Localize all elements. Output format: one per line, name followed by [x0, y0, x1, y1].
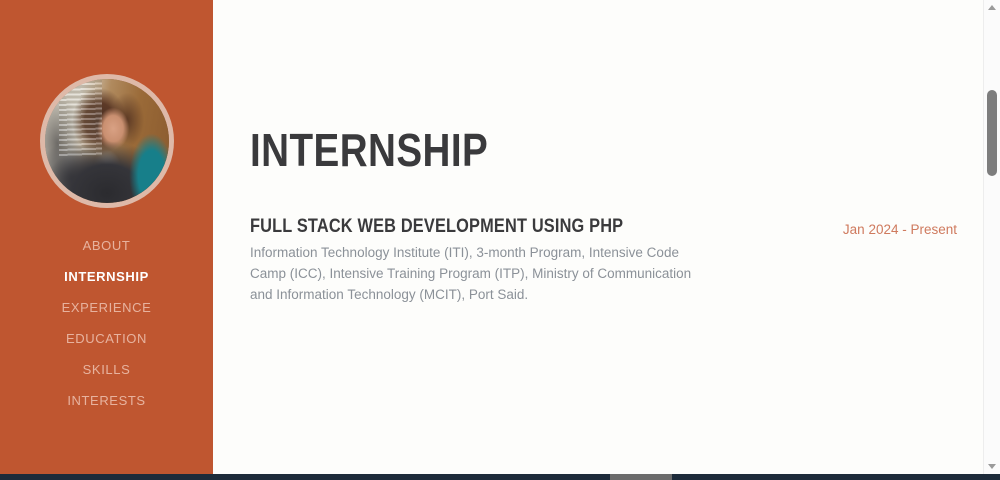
- browser-viewport: About Internship Experience Education Sk…: [0, 0, 1000, 480]
- avatar: [40, 74, 174, 208]
- entry-date: Jan 2024 - Present: [843, 216, 957, 240]
- vertical-scroll-thumb[interactable]: [987, 90, 997, 176]
- main-content: INTERNSHIP FULL STACK WEB DEVELOPMENT US…: [213, 0, 993, 474]
- page-title: INTERNSHIP: [250, 126, 488, 174]
- entry-row: FULL STACK WEB DEVELOPMENT USING PHP Inf…: [250, 216, 957, 305]
- resume-page: About Internship Experience Education Sk…: [0, 0, 993, 474]
- scroll-down-arrow[interactable]: [984, 459, 1000, 474]
- sidebar-item-internship[interactable]: Internship: [0, 261, 213, 292]
- entry-details: FULL STACK WEB DEVELOPMENT USING PHP Inf…: [250, 216, 712, 305]
- entry-title: FULL STACK WEB DEVELOPMENT USING PHP: [250, 216, 647, 238]
- sidebar-item-education[interactable]: Education: [0, 323, 213, 354]
- sidebar-item-interests[interactable]: Interests: [0, 385, 213, 416]
- sidebar-item-skills[interactable]: Skills: [0, 354, 213, 385]
- horizontal-scroll-thumb[interactable]: [610, 474, 672, 480]
- avatar-photo-blinds: [59, 79, 101, 156]
- vertical-scrollbar[interactable]: [983, 0, 1000, 474]
- sidebar-item-experience[interactable]: Experience: [0, 292, 213, 323]
- entry-description: Information Technology Institute (ITI), …: [250, 242, 712, 305]
- horizontal-scrollbar[interactable]: [0, 474, 1000, 480]
- sidebar-item-about[interactable]: About: [0, 230, 213, 261]
- sidebar: About Internship Experience Education Sk…: [0, 0, 213, 474]
- internship-entry: FULL STACK WEB DEVELOPMENT USING PHP Inf…: [250, 216, 957, 305]
- sidebar-nav: About Internship Experience Education Sk…: [0, 230, 213, 416]
- scroll-up-arrow[interactable]: [984, 0, 1000, 15]
